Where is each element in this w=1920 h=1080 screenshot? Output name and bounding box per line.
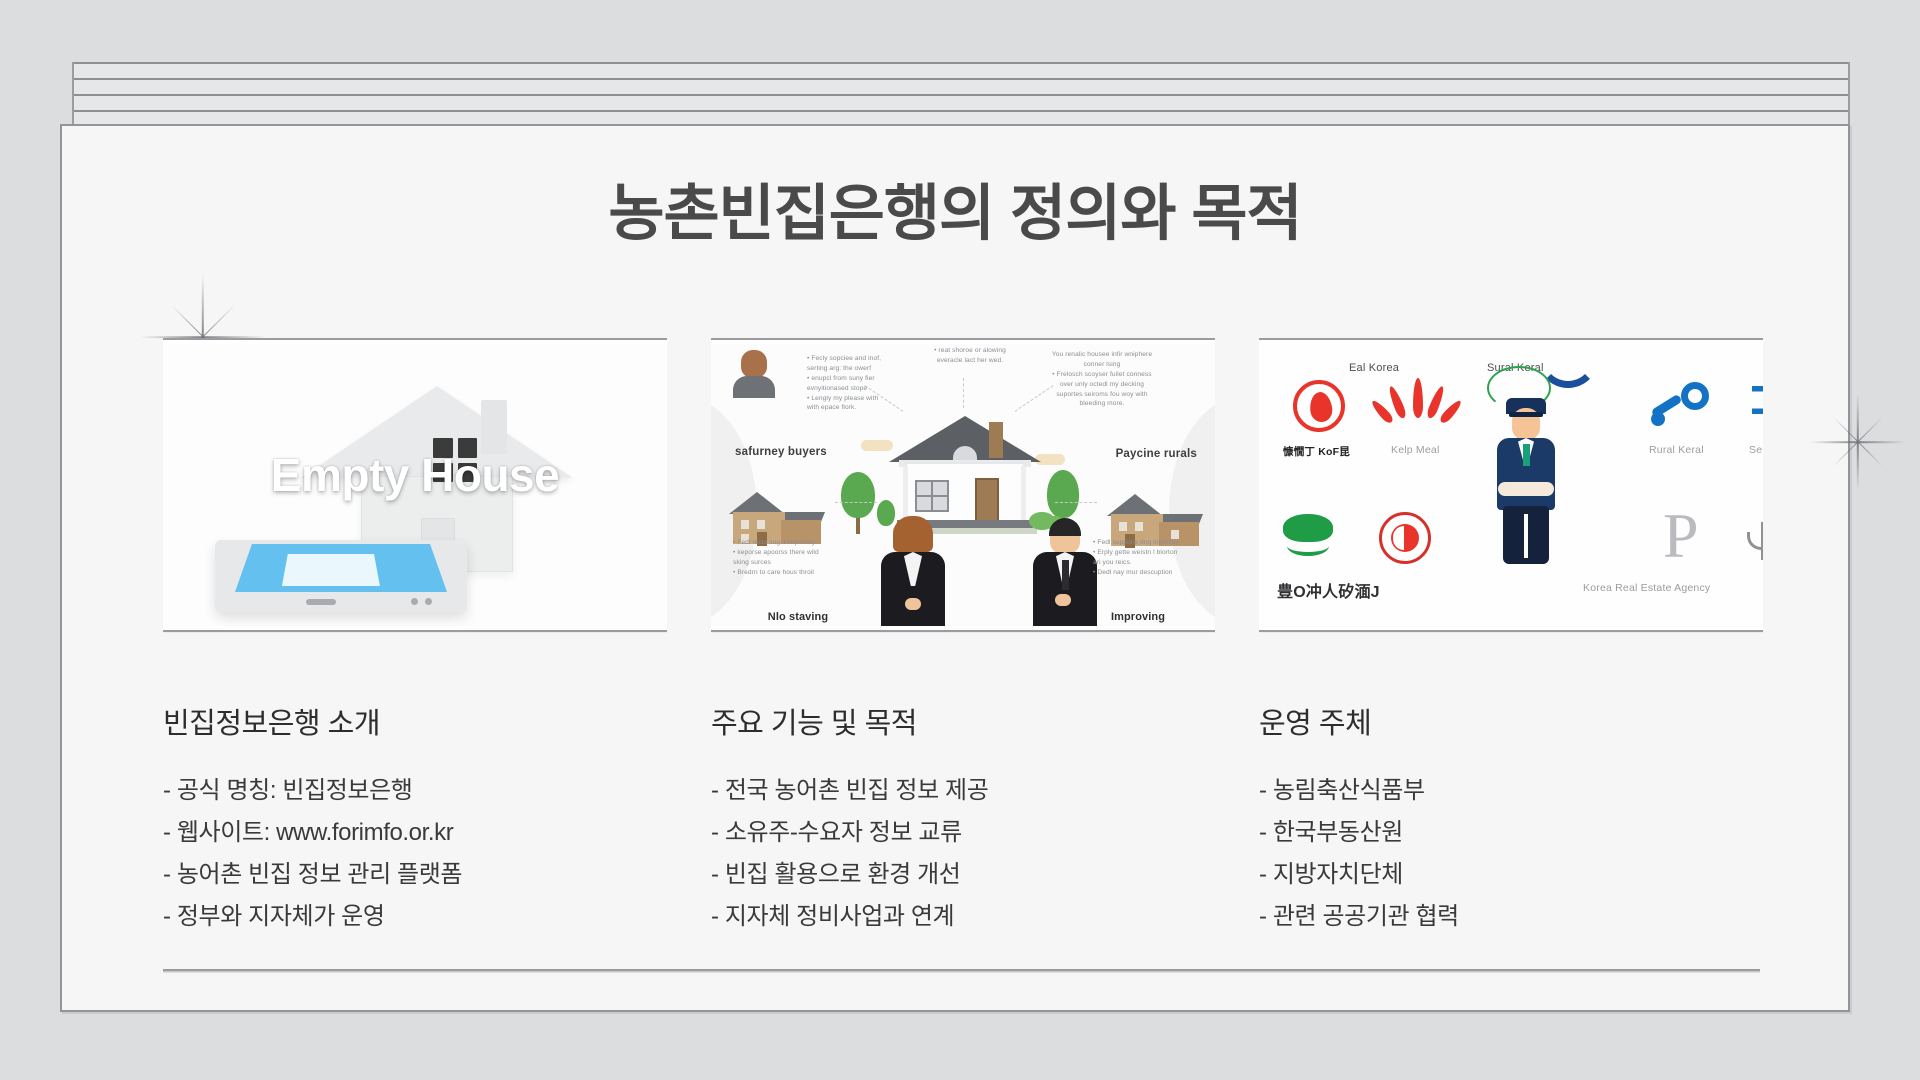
bullet-list: - 농림축산식품부 - 한국부동산원 - 지방자치단체 - 관련 공공기관 협력 (1259, 770, 1763, 938)
infographic-caption: Nlo staving reay use (743, 610, 853, 626)
list-item: - 웹사이트: www.forimfo.or.kr (163, 812, 667, 854)
empty-house-overlay-label: Empty House (163, 448, 667, 502)
infographic-caption: Improving environments (1079, 610, 1197, 626)
list-item: - 관련 공공기관 협력 (1259, 896, 1763, 938)
tree-icon (1047, 470, 1079, 518)
media-card-logos: Eal Korea Sural Keral 慷憪丁 KoF昆 (1259, 338, 1763, 632)
list-item: - 농림축산식품부 (1259, 770, 1763, 812)
logo-group-label: Eal Korea (1349, 362, 1399, 374)
rural-house-infographic: • Fecly sopciee and inof, serting arg: t… (711, 344, 1215, 626)
list-item: - 공식 명칭: 빈집정보은행 (163, 770, 667, 812)
agency-logos-collage: Eal Korea Sural Keral 慷憪丁 KoF昆 (1259, 344, 1763, 626)
tablet-icon (215, 540, 467, 612)
logo-caption: Kelp Meal (1391, 444, 1440, 456)
arrows-logo-icon (1745, 508, 1763, 564)
column-intro: Empty House 빈집정보은행 소개 - 공식 명칭: 빈집정보은행 - … (163, 338, 667, 938)
list-item: - 정부와 지자체가 운영 (163, 896, 667, 938)
column-heading: 주요 기능 및 목적 (711, 700, 1215, 742)
list-item: - 소유주-수요자 정보 교류 (711, 812, 1215, 854)
list-item: - 농어촌 빈집 정보 관리 플랫폼 (163, 854, 667, 896)
slide-panel: 농촌빈집은행의 정의와 목적 (60, 124, 1850, 1012)
tree-logo-icon (1279, 514, 1337, 558)
content-columns: Empty House 빈집정보은행 소개 - 공식 명칭: 빈집정보은행 - … (163, 338, 1763, 938)
list-item: - 지자체 정비사업과 연계 (711, 896, 1215, 938)
officer-figure-icon (1495, 388, 1557, 566)
bullet-list: - 공식 명칭: 빈집정보은행 - 웹사이트: www.forimfo.or.k… (163, 770, 667, 938)
list-item: - 빈집 활용으로 환경 개선 (711, 854, 1215, 896)
logo-caption: Rural Keral (1649, 444, 1704, 456)
decorative-stripe (72, 94, 1850, 110)
media-card-infographic: • Fecly sopciee and inof, serting arg: t… (711, 338, 1215, 632)
decorative-stripe-left-edge (72, 62, 74, 124)
circular-seal-icon (1379, 512, 1431, 564)
logo-caption: 豊O冲人矽湎J (1277, 578, 1380, 602)
letter-p-logo-icon: P (1663, 504, 1699, 568)
flame-logo-icon (1289, 376, 1353, 440)
decorative-stripe (72, 110, 1850, 124)
tree-icon (841, 472, 875, 518)
infographic-note: • Fedl reclo sug it importley • keporse … (733, 538, 837, 578)
decorative-stripe (72, 78, 1850, 94)
logo-caption: Korea Real Estate Agency (1583, 582, 1710, 594)
media-card-empty-house: Empty House (163, 338, 667, 632)
infographic-note: • Fedl suppons dng inportley • Erply get… (1093, 538, 1201, 578)
person-woman-icon (877, 520, 949, 626)
logo-caption: Servical (1749, 444, 1763, 456)
pin-logo-icon (1653, 382, 1709, 426)
infographic-note: You renalic housee infir wniphere conner… (1041, 350, 1163, 409)
infographic-section-title: safurney buyers (735, 444, 827, 461)
logo-caption: 慷憪丁 KoF昆 (1283, 444, 1350, 459)
avatar (733, 350, 775, 396)
infographic-note: • reat shoroe or alowing everacle lact h… (925, 346, 1015, 366)
decorative-stripes (72, 62, 1850, 124)
page-title: 농촌빈집은행의 정의와 목적 (62, 178, 1848, 248)
decorative-stripe (72, 62, 1850, 78)
column-operators: Eal Korea Sural Keral 慷憪丁 KoF昆 (1259, 338, 1763, 938)
column-heading: 운영 주체 (1259, 700, 1763, 742)
infographic-section-title: Paycine rurals (1116, 446, 1197, 463)
column-functions: • Fecly sopciee and inof, serting arg: t… (711, 338, 1215, 938)
bullet-list: - 전국 농어촌 빈집 정보 제공 - 소유주-수요자 정보 교류 - 빈집 활… (711, 770, 1215, 938)
footer-divider (163, 969, 1760, 971)
list-item: - 지방자치단체 (1259, 854, 1763, 896)
list-item: - 한국부동산원 (1259, 812, 1763, 854)
hanja-logo-icon: ⊐⊏ (1747, 374, 1763, 428)
decorative-stripe-right-edge (1848, 62, 1850, 124)
sparkle-star-icon (1810, 394, 1906, 490)
list-item: - 전국 농어촌 빈집 정보 제공 (711, 770, 1215, 812)
column-heading: 빈집정보은행 소개 (163, 700, 667, 742)
leaf-logo-icon (1385, 378, 1449, 434)
infographic-note: • Fecly sopciee and inof, serting arg: t… (807, 354, 899, 413)
empty-house-illustration: Empty House (163, 344, 667, 626)
